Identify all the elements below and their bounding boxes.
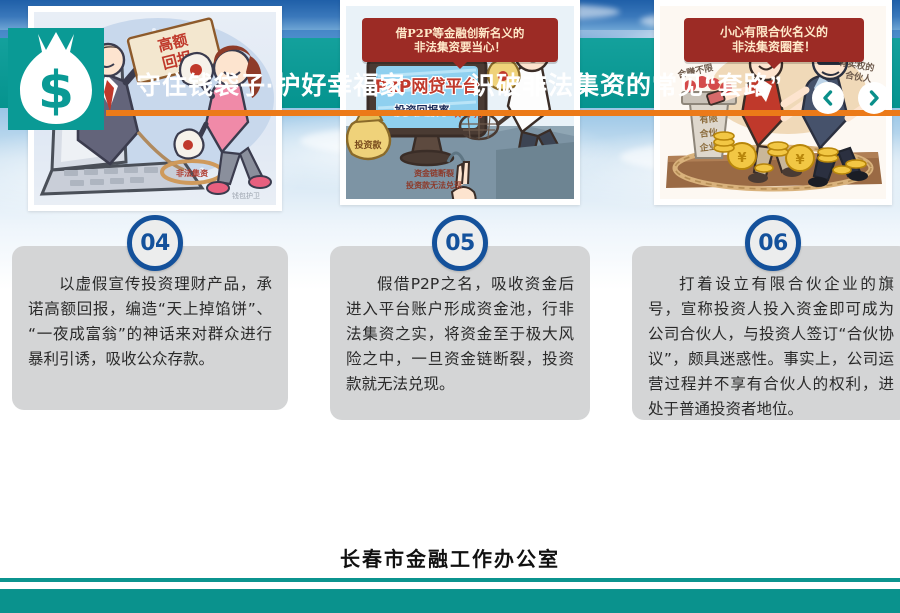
accent-stripe	[106, 110, 900, 116]
card-05-image: P2P网贷平台 投资回报率 ××% 投资款	[340, 0, 580, 205]
card-06-text: 打着设立有限合伙企业的旗号，宣称投资人投入资金即可成为公司合伙人，与投资人签订“…	[648, 272, 894, 422]
card-05-badge: 05	[432, 215, 488, 271]
card-06-banner-line1: 小心有限合伙名义的	[720, 25, 828, 40]
card-06-panel: 打着设立有限合伙企业的旗号，宣称投资人投入资金即可成为公司合伙人，与投资人签订“…	[632, 246, 900, 420]
svg-text:$: $	[38, 61, 74, 121]
footer-organization: 长春市金融工作办公室	[0, 543, 900, 572]
footer-gap	[0, 582, 900, 589]
card-06-banner: 小心有限合伙名义的 非法集资圈套！	[684, 18, 864, 62]
next-button[interactable]	[858, 82, 890, 114]
card-06-badge: 06	[745, 215, 801, 271]
card-06-banner-line2: 非法集资圈套！	[732, 40, 816, 55]
card-06-number: 06	[758, 231, 788, 256]
svg-text:¥: ¥	[795, 153, 804, 168]
card-04-text: 以虚假宣传投资理财产品，承诺高额回报，编造“天上掉馅饼”、“一夜成富翁”的神话来…	[28, 272, 272, 372]
chevron-left-icon	[819, 89, 837, 107]
svg-text:¥: ¥	[737, 151, 746, 166]
footer-band	[0, 589, 900, 613]
svg-text:资金链断裂: 资金链断裂	[414, 168, 454, 178]
card-04-badge: 04	[127, 215, 183, 271]
card-05-banner-line1: 借P2P等金融创新名义的	[396, 26, 525, 40]
poster-root: $ 守住钱袋子·护好幸福家 识破非法集资的常见“套路”	[0, 0, 900, 613]
chevron-right-icon	[865, 89, 883, 107]
card-04-number: 04	[140, 231, 170, 256]
money-bag-icon: $	[8, 28, 104, 130]
illustration-05: P2P网贷平台 投资回报率 ××% 投资款	[346, 6, 574, 199]
prev-button[interactable]	[812, 82, 844, 114]
svg-text:钱包护卫: 钱包护卫	[232, 191, 260, 200]
svg-text:投资款: 投资款	[354, 139, 382, 151]
card-05-banner: 借P2P等金融创新名义的 非法集资要当心！	[362, 18, 558, 62]
card-05-banner-line2: 非法集资要当心！	[414, 40, 506, 54]
card-05-panel: 假借P2P之名，吸收资金后进入平台账户形成资金池，行非法集资之实，将资金至于极大…	[330, 246, 590, 420]
svg-text:投资款无法兑现: 投资款无法兑现	[406, 180, 462, 190]
page-subtitle: 识破非法集资的常见“套路”	[470, 66, 783, 102]
carousel-nav	[812, 82, 890, 114]
svg-text:非法集资: 非法集资	[176, 168, 208, 178]
card-05-text: 假借P2P之名，吸收资金后进入平台账户形成资金池，行非法集资之实，将资金至于极大…	[346, 272, 574, 397]
card-05-number: 05	[445, 231, 475, 256]
page-title: 守住钱袋子·护好幸福家	[136, 66, 405, 102]
